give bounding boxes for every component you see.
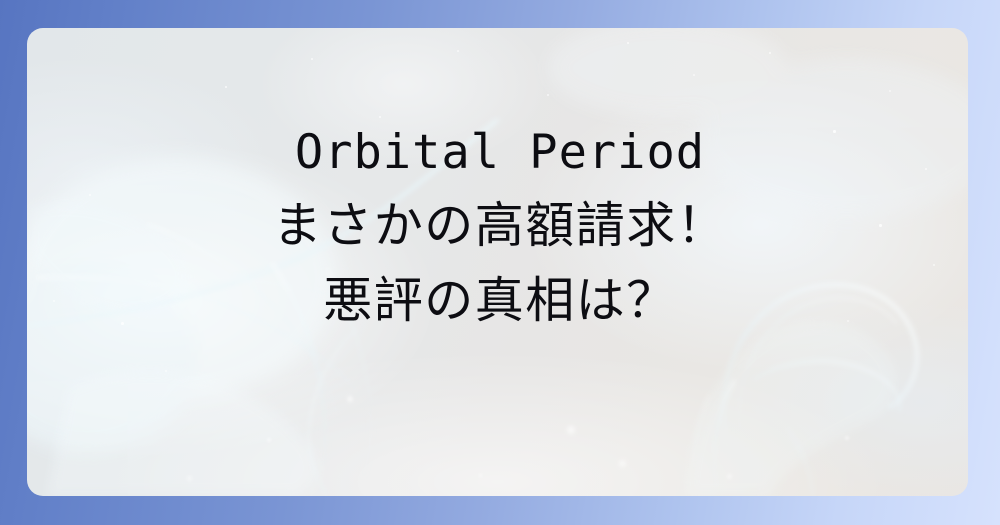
headline-line-3: 悪評の真相は？ [0,263,1000,338]
headline-line-2: まさかの高額請求！ [0,188,1000,263]
headline-block: Orbital Period まさかの高額請求！ 悪評の真相は？ [0,118,1000,338]
headline-line-title: Orbital Period [0,118,1000,188]
thumbnail-canvas: Orbital Period まさかの高額請求！ 悪評の真相は？ [0,0,1000,525]
